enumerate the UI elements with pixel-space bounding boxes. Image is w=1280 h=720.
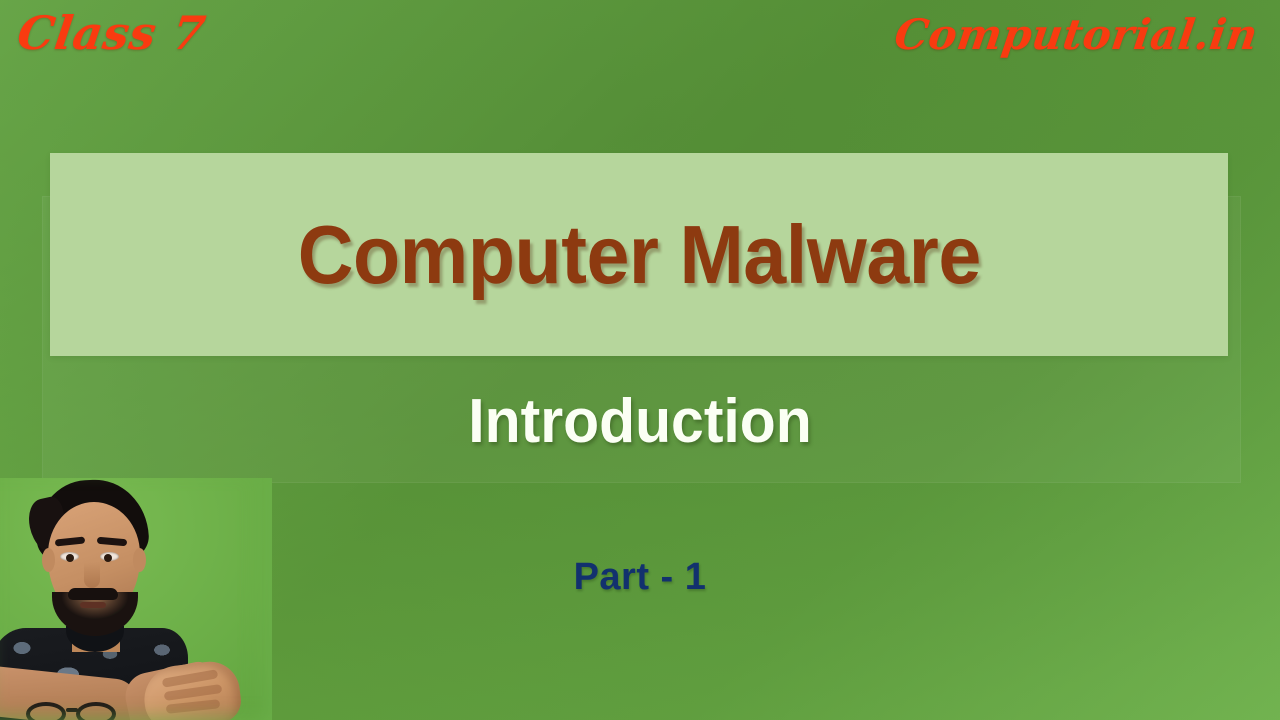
presenter-mouth bbox=[80, 602, 106, 608]
presenter-ear-right bbox=[133, 548, 146, 572]
presenter-pupil-right bbox=[104, 554, 112, 562]
header-class-label: Class 7 bbox=[14, 6, 209, 60]
page-title: Computer Malware bbox=[297, 207, 980, 303]
presenter-ear-left bbox=[42, 548, 55, 572]
presenter-webcam-overlay bbox=[0, 478, 272, 720]
eyeglasses-lens-left bbox=[26, 702, 66, 720]
slide-canvas: Class 7 Computorial.in Computer Malware … bbox=[0, 0, 1280, 720]
subtitle-text: Introduction bbox=[32, 386, 1248, 457]
eyeglasses-lens-right bbox=[76, 702, 116, 720]
header-site-label: Computorial.in bbox=[892, 10, 1261, 59]
presenter-moustache bbox=[68, 588, 118, 600]
presenter-nose bbox=[84, 562, 100, 588]
eyeglasses-bridge bbox=[66, 708, 78, 712]
eyeglasses-icon bbox=[26, 700, 122, 720]
presenter-pupil-left bbox=[66, 554, 74, 562]
title-banner: Computer Malware bbox=[50, 153, 1228, 356]
